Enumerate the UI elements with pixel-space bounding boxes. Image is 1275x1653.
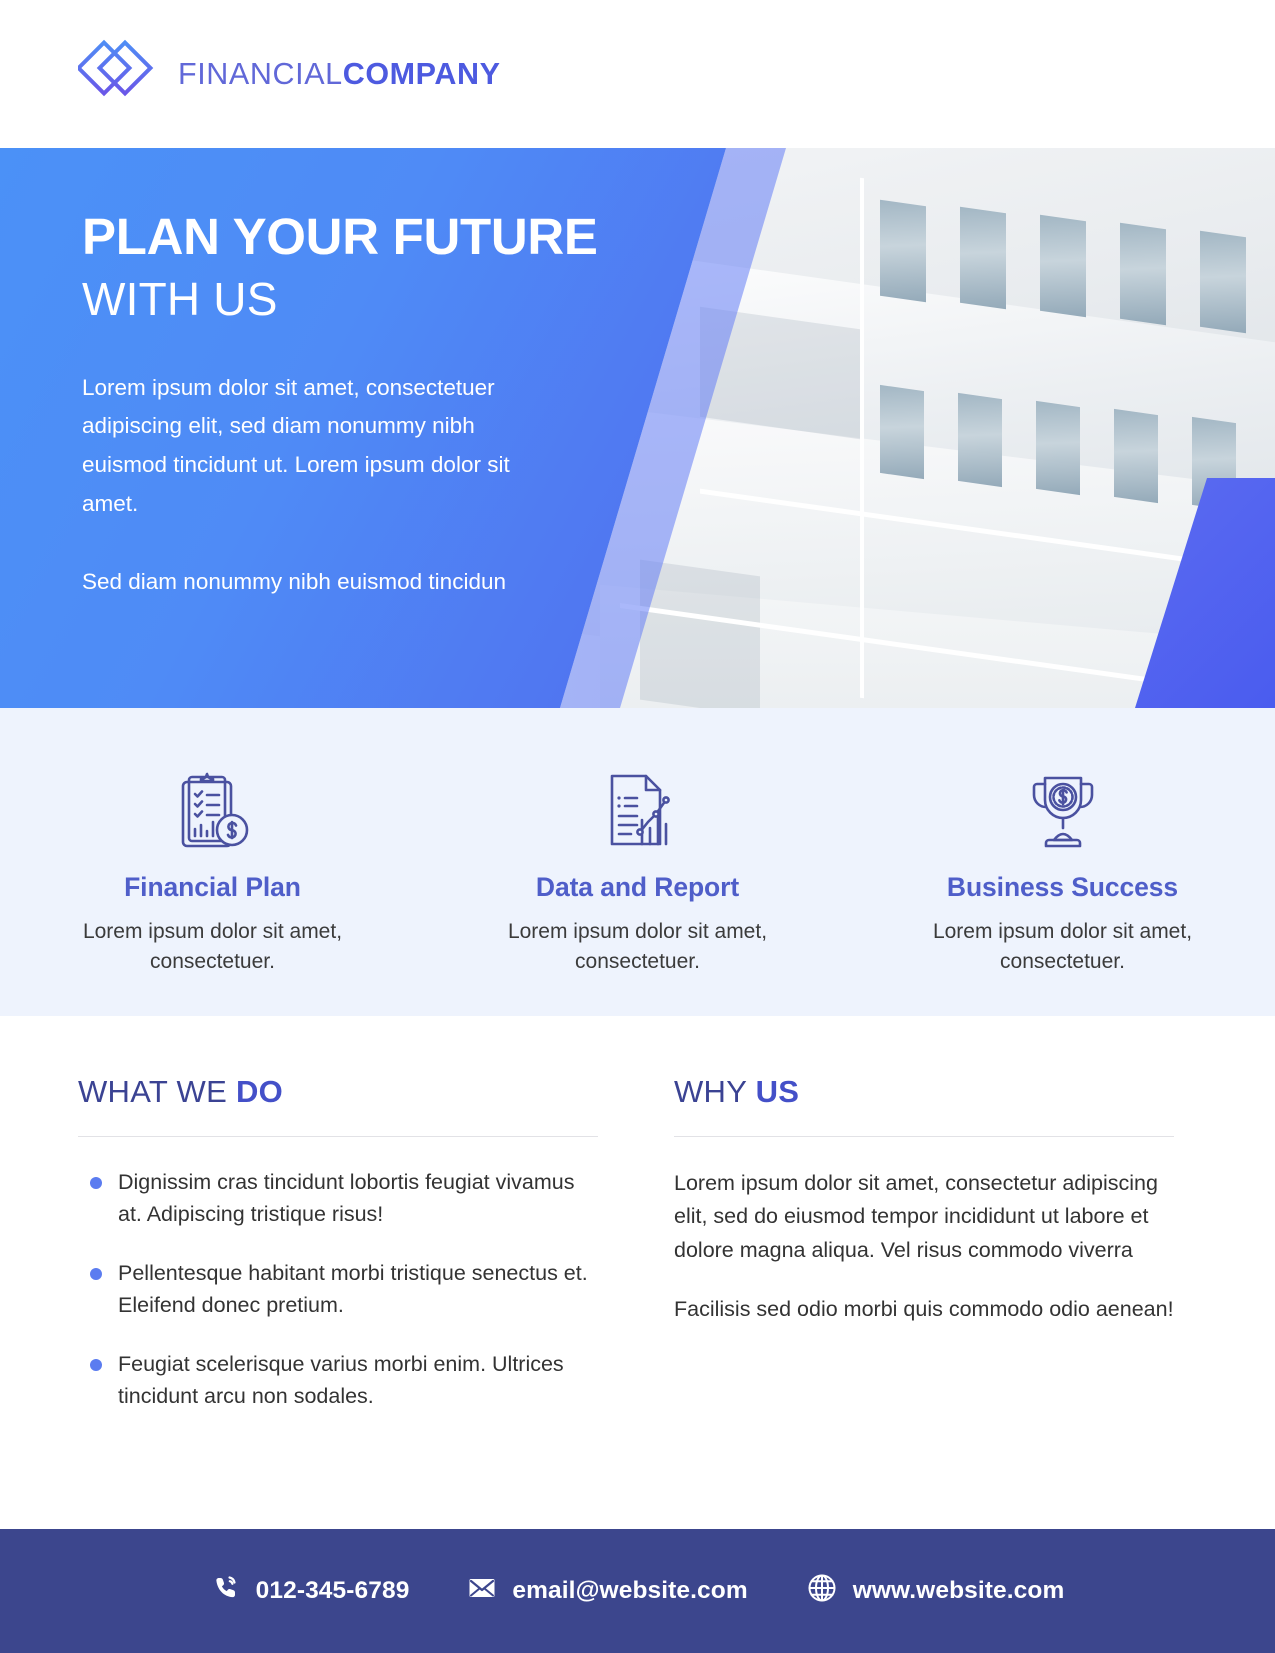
list-item: Dignissim cras tincidunt lobortis feugia… [78,1167,598,1230]
trophy-dollar-icon [880,770,1245,850]
hero-paragraph-1: Lorem ipsum dolor sit amet, consectetuer… [82,369,562,524]
clipboard-checklist-dollar-icon [30,770,395,850]
flyer-page: FINANCIALCOMPANY [0,0,1275,1653]
phone-icon [211,1573,241,1610]
hero-content: PLAN YOUR FUTURE WITH US Lorem ipsum dol… [82,210,642,602]
feature-description: Lorem ipsum dolor sit amet, consectetuer… [505,917,770,977]
brand-name-light: FINANCIAL [178,57,343,91]
list-item: Pellentesque habitant morbi tristique se… [78,1258,598,1321]
why-us-paragraph-1: Lorem ipsum dolor sit amet, consectetur … [674,1167,1174,1267]
feature-card-financial-plan: Financial Plan Lorem ipsum dolor sit ame… [0,770,425,977]
why-us-heading-bold: US [756,1074,800,1109]
brand-name: FINANCIALCOMPANY [178,57,501,92]
feature-card-business-success: Business Success Lorem ipsum dolor sit a… [850,770,1275,977]
feature-card-data-and-report: Data and Report Lorem ipsum dolor sit am… [425,770,850,977]
feature-title: Business Success [880,872,1245,903]
contact-email-text: email@website.com [512,1577,747,1605]
hero-paragraph-2: Sed diam nonummy nibh euismod tincidun [82,563,552,602]
hero-section: PLAN YOUR FUTURE WITH US Lorem ipsum dol… [0,148,1275,708]
list-item: Feugiat scelerisque varius morbi enim. U… [78,1349,598,1412]
feature-description: Lorem ipsum dolor sit amet, consectetuer… [80,917,345,977]
list-item-text: Dignissim cras tincidunt lobortis feugia… [118,1170,574,1226]
contact-phone-text: 012-345-6789 [256,1577,410,1605]
why-us-column: WHY US Lorem ipsum dolor sit amet, conse… [674,1074,1174,1516]
document-chart-icon [455,770,820,850]
features-section: Financial Plan Lorem ipsum dolor sit ame… [0,708,1275,1016]
bullet-dot-icon [90,1268,102,1280]
contact-website-text: www.website.com [853,1577,1065,1605]
bullet-dot-icon [90,1359,102,1371]
list-item-text: Pellentesque habitant morbi tristique se… [118,1261,588,1317]
list-item-text: Feugiat scelerisque varius morbi enim. U… [118,1352,564,1408]
what-we-do-heading-light: WHAT WE [78,1074,236,1109]
envelope-icon [467,1573,497,1610]
contact-website[interactable]: www.website.com [806,1572,1065,1611]
bullet-dot-icon [90,1177,102,1189]
why-us-heading-light: WHY [674,1074,756,1109]
what-we-do-heading: WHAT WE DO [78,1074,598,1110]
what-we-do-column: WHAT WE DO Dignissim cras tincidunt lobo… [78,1074,598,1516]
contact-phone[interactable]: 012-345-6789 [211,1573,410,1610]
why-us-heading: WHY US [674,1074,1174,1110]
brand-name-bold: COMPANY [343,57,501,91]
why-us-divider [674,1136,1174,1137]
what-we-do-list: Dignissim cras tincidunt lobortis feugia… [78,1167,598,1413]
why-us-paragraph-2: Facilisis sed odio morbi quis commodo od… [674,1293,1174,1326]
contact-email[interactable]: email@website.com [467,1573,747,1610]
feature-title: Data and Report [455,872,820,903]
double-diamond-logo-icon [78,37,156,111]
page-footer: 012-345-6789 email@website.com [0,1529,1275,1653]
feature-description: Lorem ipsum dolor sit amet, consectetuer… [930,917,1195,977]
globe-icon [806,1572,838,1611]
hero-title: PLAN YOUR FUTURE [82,210,642,264]
hero-subtitle: WITH US [82,271,642,329]
feature-title: Financial Plan [30,872,395,903]
page-header: FINANCIALCOMPANY [0,0,1275,148]
what-we-do-divider [78,1136,598,1137]
brand-logo: FINANCIALCOMPANY [78,37,501,111]
what-we-do-heading-bold: DO [236,1074,283,1109]
content-columns: WHAT WE DO Dignissim cras tincidunt lobo… [0,1016,1275,1516]
